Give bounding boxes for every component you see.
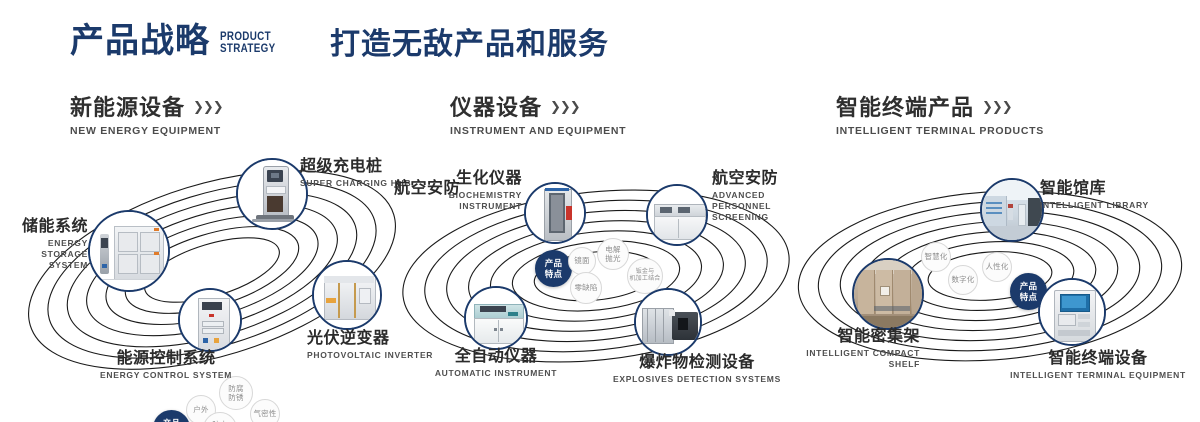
section-header-instrument: 仪器设备 ❯❯❯ INSTRUMENT AND EQUIPMENT bbox=[450, 96, 626, 137]
core-bubble-product-features: 产品 特点 bbox=[153, 410, 190, 422]
section-title-cn: 新能源设备 bbox=[70, 96, 185, 120]
caption-en: INTELLIGENT TERMINAL EQUIPMENT bbox=[1008, 370, 1188, 381]
core-bubble-line2: 特点 bbox=[1020, 292, 1037, 303]
feature-bubble-airtight: 气密性 bbox=[250, 399, 280, 422]
node-intelligent-terminal-equipment[interactable] bbox=[1038, 278, 1106, 346]
page-header: 产品战略 PRODUCT STRATEGY bbox=[70, 24, 288, 58]
photo-automatic-analyzer bbox=[466, 288, 526, 348]
chevron-right-icon: ❯❯❯ bbox=[982, 99, 1012, 117]
caption-energy-storage-system: 储能系统 ENERGY STORAGE SYSTEM bbox=[0, 218, 88, 270]
caption-cn: 全自动仪器 bbox=[416, 348, 576, 366]
caption-cn: 智能密集架 bbox=[750, 328, 920, 346]
photo-pv-inverter-cabinet bbox=[314, 262, 380, 328]
product-strategy-infographic: 产品战略 PRODUCT STRATEGY 打造无敌产品和服务 新能源设备 ❯❯… bbox=[0, 0, 1200, 422]
core-bubble-line1: 产品 bbox=[163, 418, 180, 422]
caption-en: AUTOMATIC INSTRUMENT bbox=[416, 368, 576, 379]
caption-automatic-instrument: 全自动仪器 AUTOMATIC INSTRUMENT bbox=[416, 348, 576, 379]
core-bubble-product-features: 产品 特点 bbox=[535, 250, 572, 287]
feature-bubble-mirror-finish: 镜面 bbox=[568, 247, 596, 275]
page-slogan: 打造无敌产品和服务 bbox=[330, 30, 609, 60]
feature-bubble-digital: 数字化 bbox=[948, 265, 978, 295]
photo-energy-storage-cabinet bbox=[90, 212, 168, 290]
section-title-cn: 仪器设备 bbox=[450, 96, 542, 120]
caption-aviation-security-left: 航空安防 bbox=[380, 180, 460, 198]
caption-cn: 航空安防 bbox=[380, 180, 460, 198]
node-biochemistry-instrument[interactable] bbox=[524, 182, 586, 244]
photo-compact-shelving bbox=[854, 260, 922, 328]
photo-self-service-kiosk bbox=[1040, 280, 1104, 344]
cluster-instrument: 产品 特点 镜面 电解 抛光 零缺陷 钣金与 机加工结合 生化仪器 BIOCHE… bbox=[390, 158, 810, 388]
cluster-intelligent-terminal: 智慧化 数字化 人性化 产品 特点 智能馆库 INTELLIGEN bbox=[790, 158, 1200, 388]
node-energy-control-system[interactable] bbox=[178, 288, 242, 352]
cluster-new-energy: 产品 特点 户外 防腐 防锈 防水 防尘 气密性 储能系统 bbox=[0, 150, 440, 380]
photo-security-gate bbox=[526, 184, 584, 242]
feature-bubble-electropolishing: 电解 抛光 bbox=[597, 238, 629, 270]
caption-intelligent-compact-shelf: 智能密集架 INTELLIGENT COMPACT SHELF bbox=[750, 328, 920, 370]
node-intelligent-library[interactable] bbox=[980, 178, 1044, 242]
page-title: 产品战略 bbox=[70, 24, 210, 58]
node-intelligent-compact-shelf[interactable] bbox=[852, 258, 924, 330]
caption-cn: 储能系统 bbox=[0, 218, 88, 236]
core-bubble-line1: 产品 bbox=[1020, 281, 1037, 292]
photo-explosives-detector bbox=[636, 290, 700, 354]
caption-intelligent-library: 智能馆库 INTELLIGENT LIBRARY bbox=[1040, 180, 1149, 211]
caption-cn: 智能馆库 bbox=[1040, 180, 1149, 198]
node-photovoltaic-inverter[interactable] bbox=[312, 260, 382, 330]
caption-en: ENERGY CONTROL SYSTEM bbox=[86, 370, 246, 381]
photo-library-interior bbox=[982, 180, 1042, 240]
core-bubble-line1: 产品 bbox=[545, 258, 562, 269]
feature-bubble-intelligent: 智慧化 bbox=[921, 242, 951, 272]
node-advanced-personnel-screening[interactable] bbox=[646, 184, 708, 246]
node-automatic-instrument[interactable] bbox=[464, 286, 528, 350]
photo-control-cabinet bbox=[180, 290, 240, 350]
section-header-intelligent-terminal: 智能终端产品 ❯❯❯ INTELLIGENT TERMINAL PRODUCTS bbox=[836, 96, 1044, 137]
caption-en: ENERGY STORAGE SYSTEM bbox=[0, 238, 88, 270]
photo-charging-pile bbox=[238, 160, 306, 228]
feature-bubble-humanized: 人性化 bbox=[982, 252, 1012, 282]
page-title-english-line2: STRATEGY bbox=[220, 42, 275, 55]
caption-cn: 智能终端设备 bbox=[1008, 350, 1188, 368]
caption-en: INTELLIGENT COMPACT SHELF bbox=[750, 348, 920, 369]
node-super-charging-hub[interactable] bbox=[236, 158, 308, 230]
core-bubble-line2: 特点 bbox=[545, 269, 562, 280]
section-title-cn: 智能终端产品 bbox=[836, 96, 974, 120]
page-title-english: PRODUCT STRATEGY bbox=[220, 30, 275, 58]
caption-en: INTELLIGENT LIBRARY bbox=[1040, 200, 1149, 211]
feature-bubble-zero-defect: 零缺陷 bbox=[570, 272, 602, 304]
node-energy-storage-system[interactable] bbox=[88, 210, 170, 292]
section-title-en: NEW ENERGY EQUIPMENT bbox=[70, 125, 223, 137]
section-header-new-energy: 新能源设备 ❯❯❯ NEW ENERGY EQUIPMENT bbox=[70, 96, 223, 137]
section-title-en: INSTRUMENT AND EQUIPMENT bbox=[450, 125, 626, 137]
photo-analyzer-bench bbox=[648, 186, 706, 244]
page-title-english-line1: PRODUCT bbox=[220, 30, 275, 43]
chevron-right-icon: ❯❯❯ bbox=[193, 99, 223, 117]
caption-intelligent-terminal-equipment: 智能终端设备 INTELLIGENT TERMINAL EQUIPMENT bbox=[1008, 350, 1188, 381]
feature-bubble-anticorrosion: 防腐 防锈 bbox=[219, 376, 253, 410]
caption-cn: 能源控制系统 bbox=[86, 350, 246, 368]
caption-en: EXPLOSIVES DETECTION SYSTEMS bbox=[602, 374, 792, 385]
section-title-en: INTELLIGENT TERMINAL PRODUCTS bbox=[836, 125, 1044, 137]
node-explosives-detection[interactable] bbox=[634, 288, 702, 356]
chevron-right-icon: ❯❯❯ bbox=[550, 99, 580, 117]
caption-energy-control-system: 能源控制系统 ENERGY CONTROL SYSTEM bbox=[86, 350, 246, 381]
